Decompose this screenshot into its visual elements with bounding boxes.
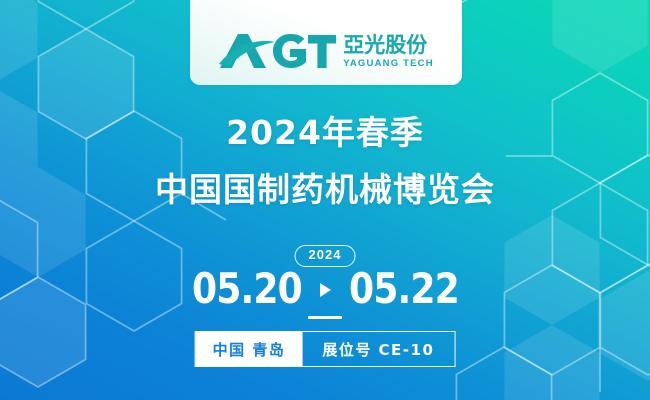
logo-card: 亞光股份 YAGUANG TECH [190,0,462,85]
date-range: 05.20 05.22 [0,268,650,310]
info-bar: 中国 青岛 展位号 CE-10 [195,331,456,367]
headline-line-1: 2024年春季 [0,116,650,149]
arrow-right-icon [320,283,331,297]
location-label: 中国 青岛 [196,332,303,366]
booth-label: 展位号 CE-10 [302,332,454,366]
date-end: 05.22 [348,268,458,310]
logo-company-name-en: YAGUANG TECH [343,59,434,69]
agt-logo-icon [218,32,336,72]
exhibition-banner: 亞光股份 YAGUANG TECH 2024年春季 中国国制药机械博览会 202… [0,0,650,400]
year-badge: 2024 [295,245,356,267]
headline-block: 2024年春季 中国国制药机械博览会 [0,116,650,206]
logo-company-name-cn: 亞光股份 [343,35,427,56]
headline-line-2: 中国国制药机械博览会 [0,173,650,206]
date-start: 05.20 [192,268,302,310]
date-underline-dash [308,316,342,319]
